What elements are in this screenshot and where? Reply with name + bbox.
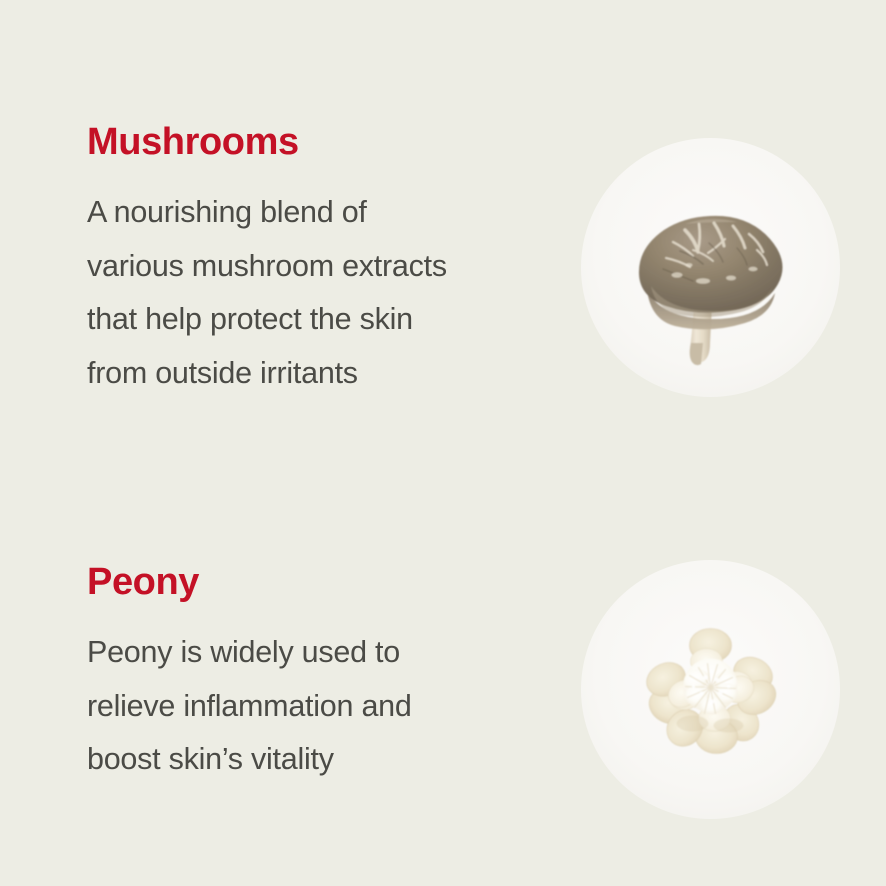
description-line: that help protect the skin xyxy=(87,293,547,347)
description-line: from outside irritants xyxy=(87,347,547,401)
description-line: A nourishing blend of xyxy=(87,186,547,240)
description-line: relieve inflammation and xyxy=(87,680,547,734)
ingredient-text-column: Mushrooms A nourishing blend of various … xyxy=(87,120,547,400)
ingredient-text-column: Peony Peony is widely used to relieve in… xyxy=(87,560,547,787)
ingredient-image-circle-peony xyxy=(581,560,840,819)
ingredient-image-circle-mushrooms xyxy=(581,138,840,397)
ingredient-block-mushrooms: Mushrooms A nourishing blend of various … xyxy=(0,120,886,420)
shiitake-mushroom-icon xyxy=(581,138,840,397)
ingredient-title-peony: Peony xyxy=(87,560,547,604)
description-line: various mushroom extracts xyxy=(87,240,547,294)
ingredient-description-peony: Peony is widely used to relieve inflamma… xyxy=(87,626,547,787)
white-peony-flower-icon xyxy=(581,560,840,819)
ingredient-block-peony: Peony Peony is widely used to relieve in… xyxy=(0,560,886,850)
description-line: Peony is widely used to xyxy=(87,626,547,680)
description-line: boost skin’s vitality xyxy=(87,733,547,787)
ingredients-page: Mushrooms A nourishing blend of various … xyxy=(0,0,886,886)
ingredient-description-mushrooms: A nourishing blend of various mushroom e… xyxy=(87,186,547,400)
ingredient-title-mushrooms: Mushrooms xyxy=(87,120,547,164)
